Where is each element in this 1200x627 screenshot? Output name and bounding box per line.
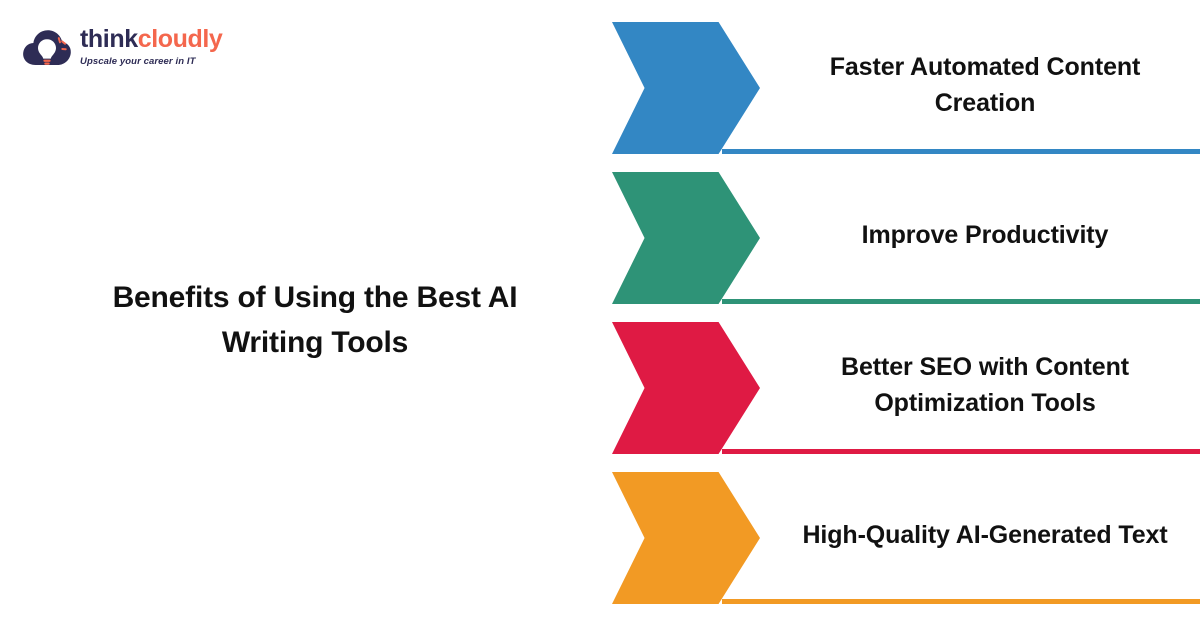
benefit-item-2: Improve Productivity [612, 172, 1200, 304]
benefit-item-1: Faster Automated Content Creation [612, 22, 1200, 154]
logo-word-think: think [80, 25, 138, 53]
benefit-label: Improve Productivity [770, 172, 1200, 304]
logo-tagline: Upscale your career in IT [80, 57, 222, 67]
page-title: Benefits of Using the Best AI Writing To… [60, 275, 570, 365]
chevron-arrow-icon [612, 22, 760, 154]
benefit-item-4: High-Quality AI-Generated Text [612, 472, 1200, 604]
chevron-arrow-icon [612, 322, 760, 454]
logo-wordmark: thinkcloudly [80, 27, 222, 52]
benefit-label: Better SEO with Content Optimization Too… [770, 322, 1200, 454]
chevron-arrow-icon [612, 172, 760, 304]
brand-logo[interactable]: thinkcloudly Upscale your career in IT [22, 20, 222, 74]
chevron-arrow-icon [612, 472, 760, 604]
benefit-label: High-Quality AI-Generated Text [770, 472, 1200, 604]
logo-word-cloudly: cloudly [138, 25, 223, 53]
benefit-label: Faster Automated Content Creation [770, 22, 1200, 154]
benefits-list: Faster Automated Content Creation Improv… [612, 0, 1200, 627]
logo-wordmark-group: thinkcloudly Upscale your career in IT [80, 27, 222, 67]
cloud-lightbulb-icon [22, 25, 72, 69]
benefit-item-3: Better SEO with Content Optimization Too… [612, 322, 1200, 454]
